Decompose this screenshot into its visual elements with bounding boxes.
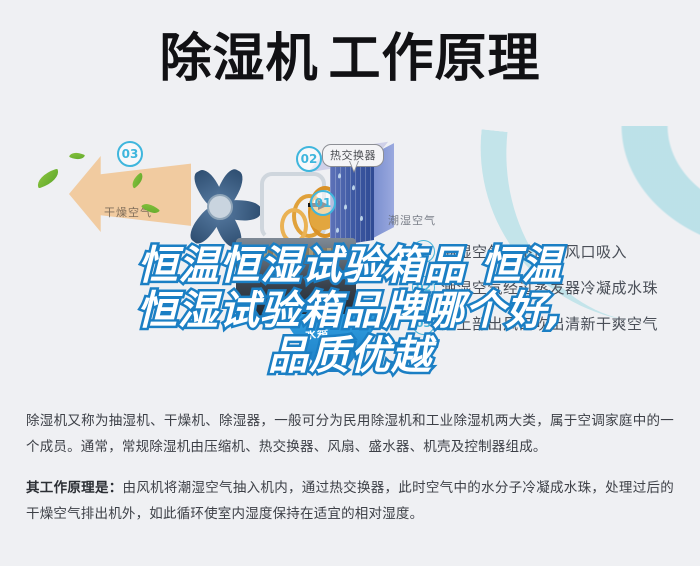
header-banner: 除湿机工作原理 (0, 0, 700, 118)
step-number: 03 (412, 312, 435, 335)
dehumidifier-body (236, 238, 356, 324)
paragraph-2-lead: 其工作原理是： (26, 480, 123, 495)
title-part-2: 工作原理 (329, 29, 541, 89)
step-item: 03 从上部出风口吹出清新干爽空气 (412, 312, 688, 335)
fan-hub (207, 194, 233, 220)
step-number: 01 (412, 240, 435, 263)
paragraph-2-rest: 由风机将潮湿空气抽入机内，通过热交换器，此时空气中的水分子冷凝成水珠，处理过后的… (26, 480, 674, 521)
step-text: 潮湿空气从下部进风口吸入 (441, 241, 627, 262)
badge-03: 03 (117, 141, 143, 167)
title-part-1: 除湿机 (159, 29, 318, 89)
water-tank-label: 水箱 (305, 326, 329, 342)
step-number: 02 (412, 276, 435, 299)
moist-air-label: 潮湿空气 (388, 212, 436, 228)
working-principle-diagram: 干燥空气 (0, 118, 700, 400)
page-root: 除湿机工作原理 干燥空气 (0, 0, 700, 566)
page-title: 除湿机工作原理 (159, 33, 540, 85)
dry-air-arrow-icon (69, 156, 191, 232)
water-tank-seam (332, 340, 333, 366)
heat-exchanger-icon (330, 153, 392, 249)
paragraph-1: 除湿机又称为抽湿机、干燥机、除湿器，一般可分为民用除湿机和工业除湿机两大类，属于… (26, 408, 674, 461)
step-text: 从上部出风口吹出清新干爽空气 (441, 313, 658, 334)
step-item: 01 潮湿空气从下部进风口吸入 (412, 240, 688, 263)
step-item: 02 潮湿空气经过蒸发器冷凝成水珠 (412, 276, 688, 299)
badge-01: 01 (310, 190, 336, 216)
step-list: 01 潮湿空气从下部进风口吸入 02 潮湿空气经过蒸发器冷凝成水珠 03 从上部… (412, 240, 688, 348)
badge-02: 02 (296, 146, 322, 172)
leaf-icon (69, 149, 85, 162)
callout-pointer-icon (349, 161, 359, 173)
article-body: 除湿机又称为抽湿机、干燥机、除湿器，一般可分为民用除湿机和工业除湿机两大类，属于… (0, 408, 700, 541)
fan-icon (175, 162, 271, 248)
machine-vent-stripe (246, 248, 346, 258)
leaf-icon (35, 169, 62, 189)
step-text: 潮湿空气经过蒸发器冷凝成水珠 (441, 277, 658, 298)
paragraph-2: 其工作原理是：由风机将潮湿空气抽入机内，通过热交换器，此时空气中的水分子冷凝成水… (26, 475, 674, 528)
